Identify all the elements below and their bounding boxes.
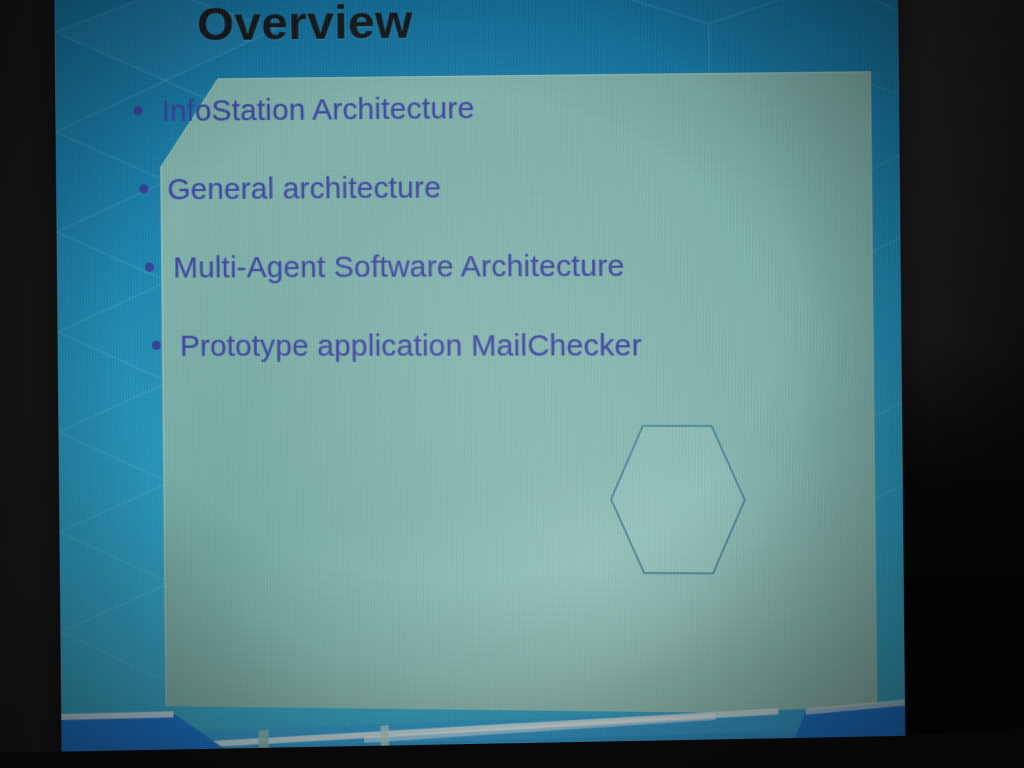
list-item: General architecture [139, 169, 750, 208]
slide-title: Overview [197, 0, 413, 51]
bullet-dot-icon [145, 263, 154, 272]
list-item: Prototype application MailChecker [152, 329, 752, 364]
bullet-dot-icon [152, 341, 161, 350]
list-item: InfoStation Architecture [133, 89, 749, 129]
photograph: Overview InfoStation Architecture [0, 0, 1024, 768]
list-item-label: General architecture [167, 171, 441, 207]
list-item-label: Multi-Agent Software Architecture [173, 249, 625, 285]
projection-screen: Overview InfoStation Architecture [54, 0, 905, 768]
bullet-list: InfoStation Architecture General archite… [133, 89, 752, 409]
list-item: Multi-Agent Software Architecture [145, 249, 751, 286]
bullet-dot-icon [133, 106, 142, 115]
list-item-label: InfoStation Architecture [162, 92, 475, 129]
bullet-dot-icon [139, 184, 148, 193]
presentation-slide: Overview InfoStation Architecture [54, 0, 905, 768]
hexagon-outline-icon [608, 423, 747, 577]
list-item-label: Prototype application MailChecker [180, 329, 642, 364]
